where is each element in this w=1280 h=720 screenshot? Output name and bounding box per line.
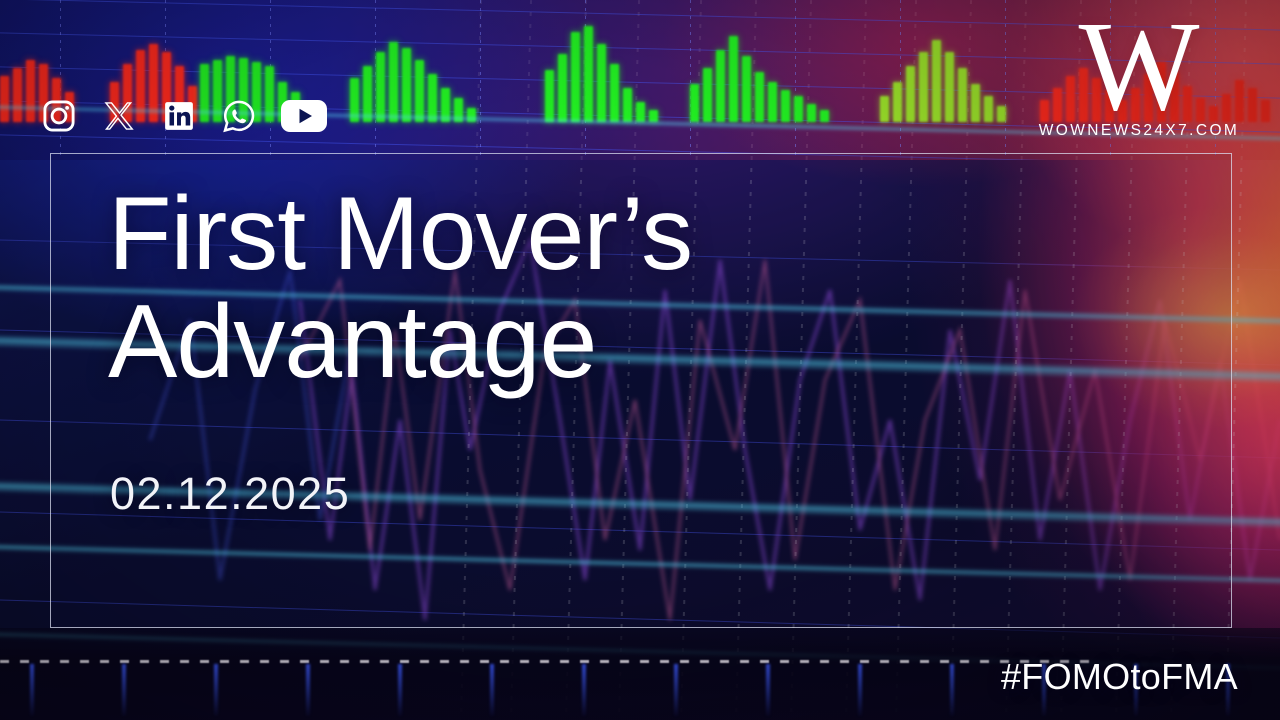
- bottom-dotted-line: [0, 660, 1100, 663]
- social-links: [38, 95, 330, 137]
- site-logo[interactable]: W WOWNEWS24X7.COM: [1024, 6, 1254, 140]
- logo-mark: W: [1024, 6, 1254, 128]
- poster-canvas: W WOWNEWS24X7.COM First Mover’s Advantag…: [0, 0, 1280, 720]
- logo-wordmark: WOWNEWS24X7.COM: [1024, 122, 1254, 140]
- instagram-icon[interactable]: [38, 95, 80, 137]
- hashtag-label: #FOMOtoFMA: [1001, 656, 1238, 698]
- page-title: First Mover’s Advantage: [108, 180, 692, 396]
- headline-line-1: First Mover’s: [108, 176, 692, 292]
- publish-date: 02.12.2025: [110, 468, 350, 520]
- headline-line-2: Advantage: [108, 288, 692, 396]
- whatsapp-icon[interactable]: [218, 95, 260, 137]
- x-icon[interactable]: [98, 95, 140, 137]
- linkedin-icon[interactable]: [158, 95, 200, 137]
- youtube-icon[interactable]: [278, 95, 330, 137]
